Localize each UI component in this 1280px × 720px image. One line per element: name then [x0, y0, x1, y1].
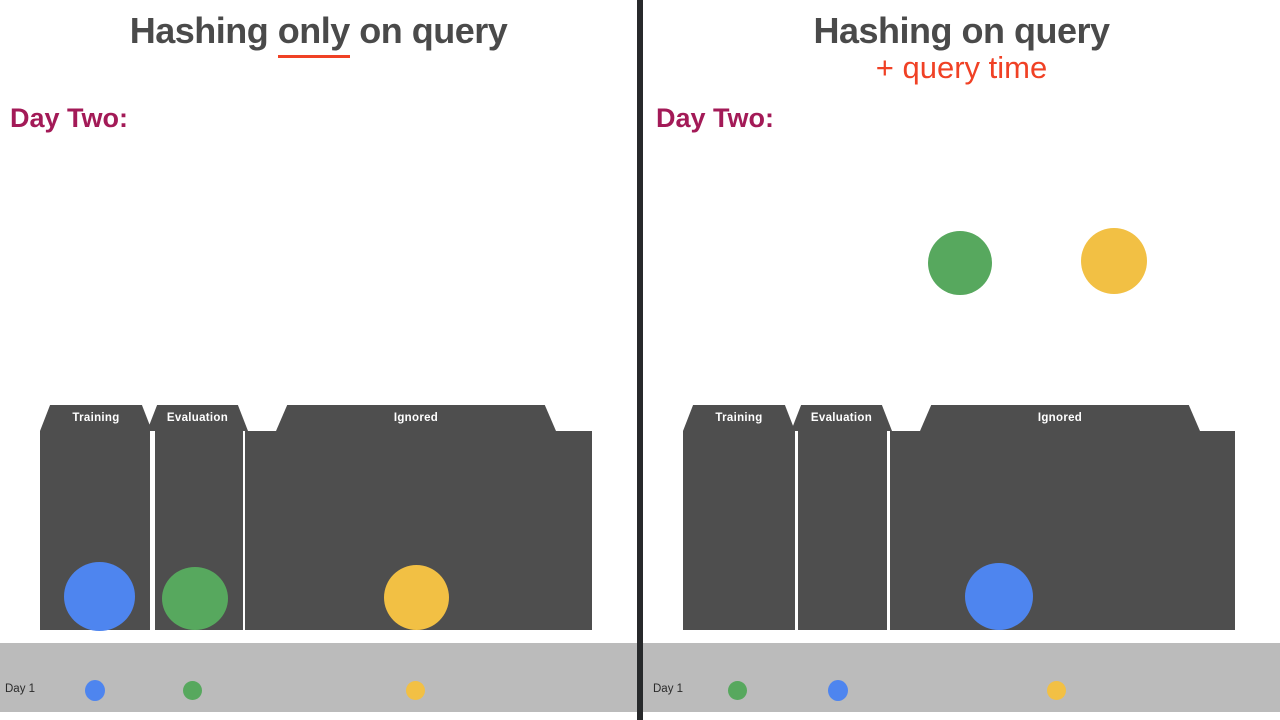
- panel-right: Hashing on query + query time Day Two: T…: [643, 0, 1280, 720]
- panel-left: Hashing only on query Day Two: Training …: [0, 0, 637, 720]
- panel-left-title: Hashing only on query: [0, 10, 637, 52]
- panel-right-subtitle: + query time: [643, 50, 1280, 86]
- timeline-dot-blue: [85, 680, 105, 701]
- ball-blue-in-training: [64, 562, 135, 631]
- timeline-dot-blue: [828, 680, 848, 701]
- funnel-evaluation: Evaluation: [791, 405, 892, 431]
- funnel-training-label: Training: [715, 412, 762, 424]
- bin-evaluation: [798, 431, 887, 630]
- funnel-training-label: Training: [72, 412, 119, 424]
- title-prefix: Hashing on query: [813, 10, 1109, 51]
- panel-right-day-label: Day Two:: [656, 103, 774, 134]
- timeline-bar-right: [643, 643, 1280, 712]
- title-suffix: on query: [350, 10, 508, 51]
- timeline-dot-yellow: [1047, 681, 1066, 700]
- funnel-ignored: Ignored: [920, 405, 1200, 431]
- timeline-label-left: Day 1: [5, 683, 35, 695]
- panel-left-day-label: Day Two:: [10, 103, 128, 134]
- funnel-evaluation: Evaluation: [147, 405, 248, 431]
- ball-yellow-in-ignored: [384, 565, 449, 630]
- funnel-ignored-label: Ignored: [1038, 412, 1082, 424]
- floating-ball-yellow: [1081, 228, 1147, 294]
- timeline-dot-yellow: [406, 681, 425, 700]
- bin-training: [683, 431, 795, 630]
- funnel-ignored: Ignored: [276, 405, 556, 431]
- slide-canvas: Hashing only on query Day Two: Training …: [0, 0, 1280, 720]
- funnel-evaluation-label: Evaluation: [167, 412, 228, 424]
- timeline-bar-left: [0, 643, 637, 712]
- funnel-ignored-label: Ignored: [394, 412, 438, 424]
- funnel-training: Training: [683, 405, 795, 431]
- title-prefix: Hashing: [130, 10, 278, 51]
- funnel-training: Training: [40, 405, 152, 431]
- bin-ignored: [890, 431, 1235, 630]
- timeline-dot-green: [183, 681, 202, 700]
- ball-green-in-evaluation: [162, 567, 228, 630]
- title-underlined-word: only: [278, 10, 350, 52]
- timeline-dot-green: [728, 681, 747, 700]
- floating-ball-green: [928, 231, 992, 295]
- funnel-evaluation-label: Evaluation: [811, 412, 872, 424]
- panel-right-title: Hashing on query: [643, 10, 1280, 52]
- ball-blue-in-ignored: [965, 563, 1033, 630]
- timeline-label-right: Day 1: [653, 683, 683, 695]
